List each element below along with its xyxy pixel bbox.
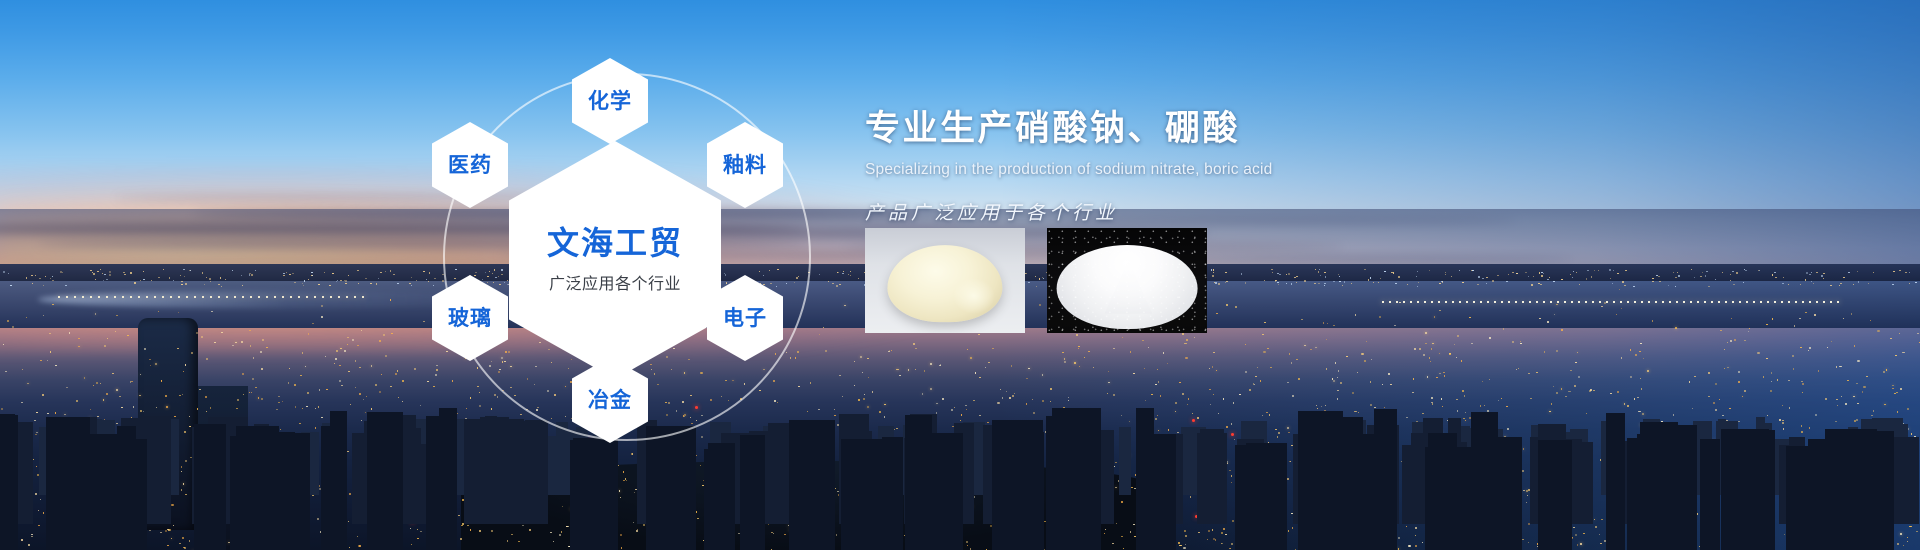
window-light [307, 392, 309, 394]
roof-beacon-light [1231, 433, 1234, 436]
window-light [1594, 519, 1595, 521]
window-light [1729, 408, 1730, 410]
window-light [1792, 355, 1794, 357]
window-light [160, 532, 162, 533]
window-light [42, 394, 44, 396]
window-light [119, 396, 121, 397]
window-light [1818, 370, 1819, 372]
window-light [1854, 420, 1856, 422]
window-light [1262, 334, 1264, 335]
window-light [1909, 526, 1911, 527]
window-light [1266, 412, 1268, 413]
window-light [1604, 540, 1606, 542]
powder-grain-texture [1047, 228, 1207, 333]
window-light [1213, 538, 1214, 540]
window-light [1465, 420, 1466, 421]
window-light [171, 538, 172, 539]
window-light [1000, 389, 1001, 390]
window-light [1896, 392, 1898, 393]
window-light [1480, 405, 1481, 407]
window-light [1748, 331, 1749, 332]
window-light [978, 334, 980, 335]
window-light [318, 406, 319, 408]
window-light [335, 358, 337, 360]
window-light [1002, 397, 1003, 399]
window-light [908, 369, 909, 371]
window-light [1033, 412, 1035, 414]
window-light [1289, 353, 1291, 355]
window-light [1182, 393, 1184, 394]
window-light [302, 408, 303, 409]
window-light [31, 536, 33, 537]
window-light [864, 394, 865, 395]
window-light [371, 365, 372, 367]
window-light [241, 341, 243, 343]
window-light [317, 518, 319, 519]
window-light [889, 350, 890, 351]
window-light [1078, 348, 1080, 350]
window-light [179, 543, 181, 544]
window-light [1484, 405, 1486, 406]
window-light [1179, 382, 1181, 383]
window-light [1439, 353, 1440, 355]
window-light [1788, 380, 1789, 382]
window-light [1398, 537, 1400, 539]
window-light [1419, 348, 1421, 350]
window-light [390, 386, 391, 387]
window-light [1185, 357, 1187, 359]
window-light [1600, 543, 1602, 544]
window-light [1158, 381, 1159, 383]
window-light [1157, 369, 1158, 370]
window-light [1590, 389, 1592, 390]
window-light [1456, 357, 1457, 358]
window-light [1187, 404, 1188, 405]
window-light [1577, 352, 1578, 353]
window-light [206, 358, 208, 360]
suspension-bridge-right [1382, 301, 1843, 303]
window-light [1793, 368, 1794, 370]
window-light [352, 339, 353, 341]
window-light [1767, 415, 1769, 416]
window-light [1463, 418, 1465, 419]
window-light [1800, 347, 1802, 349]
window-light [1742, 396, 1744, 397]
window-light [1316, 405, 1318, 406]
window-light [69, 332, 70, 334]
window-light [1809, 347, 1811, 348]
window-light [997, 402, 999, 403]
window-light [395, 373, 397, 375]
window-light [1457, 335, 1458, 337]
window-light [1871, 415, 1873, 416]
window-light [1522, 539, 1524, 541]
window-light [302, 352, 303, 354]
window-light [1408, 545, 1410, 547]
window-light [1267, 348, 1269, 349]
window-light [1449, 353, 1451, 355]
window-light [1647, 370, 1649, 372]
window-light [1335, 362, 1336, 364]
window-light [1186, 339, 1188, 341]
window-light [363, 399, 364, 400]
window-light [47, 360, 49, 361]
window-light [1257, 367, 1258, 368]
window-light [339, 365, 341, 366]
window-light [232, 345, 234, 346]
window-light [1461, 360, 1463, 362]
window-light [1179, 545, 1181, 546]
window-light [1724, 368, 1725, 369]
window-light [1168, 429, 1169, 431]
window-light [1406, 526, 1407, 527]
window-light [1011, 365, 1013, 367]
window-light [1221, 532, 1222, 534]
window-light [1177, 432, 1179, 433]
window-light [1223, 528, 1225, 530]
window-light [1730, 340, 1732, 342]
window-light [1777, 379, 1778, 381]
window-light [1456, 399, 1458, 401]
window-light [1556, 350, 1558, 352]
window-light [924, 370, 925, 372]
window-light [361, 420, 362, 421]
window-light [1429, 357, 1430, 359]
window-light [96, 382, 98, 383]
window-light [1575, 534, 1577, 536]
window-light [1221, 543, 1223, 544]
banner-heading: 专业生产硝酸钠、硼酸 [865, 100, 1585, 151]
window-light [1573, 527, 1574, 528]
window-light [1333, 380, 1335, 382]
window-light [398, 397, 400, 399]
window-light [1160, 395, 1161, 397]
window-light [1507, 428, 1509, 430]
window-light [1877, 330, 1879, 332]
window-light [1338, 370, 1340, 372]
window-light [66, 387, 68, 388]
window-light [1464, 395, 1465, 397]
banner-tagline: 产品广泛应用于各个行业 [865, 198, 1585, 225]
window-light [1287, 427, 1289, 429]
window-light [1454, 344, 1455, 345]
window-light [64, 414, 65, 415]
window-light [258, 397, 260, 399]
window-light [1298, 378, 1300, 380]
window-light [1583, 533, 1585, 534]
window-light [1358, 412, 1360, 414]
window-light [103, 399, 105, 401]
window-light [1570, 370, 1572, 372]
window-light [295, 406, 296, 407]
window-light [1253, 383, 1255, 384]
window-light [106, 393, 108, 394]
window-light [1565, 396, 1567, 397]
window-light [1234, 439, 1235, 440]
window-light [1853, 396, 1855, 398]
window-light [1213, 352, 1215, 353]
window-light [1326, 339, 1327, 341]
window-light [1627, 405, 1629, 407]
window-light [319, 485, 321, 487]
window-light [1207, 539, 1208, 540]
window-light [350, 404, 351, 406]
banner-english-subtitle: Specializing in the production of sodium… [865, 161, 1585, 179]
window-light [1406, 417, 1408, 418]
window-light [280, 429, 281, 430]
window-light [1209, 389, 1210, 390]
window-light [1544, 351, 1545, 352]
window-light [1142, 340, 1143, 341]
building [1136, 408, 1153, 550]
window-light [1325, 405, 1326, 406]
window-light [1578, 376, 1580, 378]
window-light [1897, 543, 1899, 545]
window-light [954, 407, 955, 409]
window-light [1184, 530, 1186, 532]
window-light [116, 389, 118, 391]
window-light [1692, 408, 1693, 409]
window-light [1427, 376, 1429, 377]
window-light [930, 363, 932, 364]
window-light [93, 385, 94, 386]
window-light [308, 333, 309, 335]
window-light [379, 340, 380, 342]
window-light [1212, 366, 1213, 368]
window-light [1536, 372, 1538, 374]
window-light [1498, 400, 1499, 401]
window-light [1278, 432, 1280, 434]
window-light [1260, 380, 1261, 382]
window-light [1277, 436, 1278, 438]
window-light [1413, 378, 1414, 380]
window-light [1624, 403, 1626, 405]
window-light [1232, 520, 1234, 522]
window-light [1198, 532, 1200, 533]
window-light [84, 377, 85, 379]
window-light [1208, 530, 1210, 532]
banner-copy: 专业生产硝酸钠、硼酸 Specializing in the productio… [865, 100, 1585, 225]
window-light [1907, 541, 1908, 543]
window-light [1825, 398, 1827, 400]
window-light [348, 371, 350, 372]
building [1808, 439, 1833, 550]
window-light [1561, 329, 1563, 331]
hero-banner: 化学 釉料 医药 电子 玻璃 冶金 文海工贸 广泛应用各个行业 专业生产硝酸钠、… [0, 0, 1920, 550]
window-light [21, 539, 23, 541]
building [1606, 413, 1624, 550]
window-light [371, 408, 373, 409]
window-light [1895, 355, 1897, 356]
window-light [1439, 373, 1441, 374]
window-light [1526, 490, 1528, 492]
window-light [1694, 376, 1696, 377]
window-light [1337, 377, 1338, 378]
window-light [1770, 390, 1772, 391]
building [905, 415, 931, 550]
window-light [1523, 490, 1525, 491]
window-light [1522, 470, 1524, 472]
window-light [40, 499, 42, 500]
window-light [1586, 413, 1587, 414]
window-light [899, 375, 901, 376]
window-light [1226, 426, 1228, 428]
window-light [1442, 406, 1443, 407]
window-light [97, 416, 99, 417]
window-light [1801, 381, 1803, 383]
window-light [1108, 382, 1110, 383]
window-light [1175, 411, 1177, 412]
window-light [1270, 367, 1272, 368]
window-light [867, 358, 869, 359]
window-light [1390, 384, 1392, 385]
window-light [965, 405, 967, 406]
window-light [1713, 402, 1715, 403]
window-light [334, 363, 335, 364]
window-light [1415, 545, 1417, 547]
window-light [276, 409, 278, 410]
window-light [868, 377, 869, 378]
window-light [249, 392, 251, 393]
window-light [1836, 399, 1838, 400]
window-light [35, 434, 37, 435]
window-light [967, 349, 969, 350]
window-light [1, 408, 2, 410]
window-light [1006, 391, 1007, 392]
window-light [1630, 349, 1632, 350]
window-light [1414, 348, 1416, 350]
window-light [1862, 391, 1863, 392]
window-light [1231, 543, 1232, 545]
building [1700, 439, 1720, 550]
window-light [1182, 333, 1184, 335]
window-light [1113, 348, 1115, 349]
window-light [27, 383, 29, 384]
window-light [1727, 342, 1729, 343]
window-light [1551, 403, 1552, 405]
window-light [1808, 350, 1809, 352]
window-light [1580, 543, 1582, 545]
roof-beacon-light [1192, 419, 1195, 422]
window-light [1423, 354, 1425, 356]
window-light [1088, 351, 1090, 352]
window-light [1184, 343, 1186, 344]
window-light [326, 389, 328, 390]
window-light [397, 370, 399, 372]
window-light [1262, 415, 1263, 416]
window-light [1708, 396, 1710, 398]
window-light [1574, 385, 1576, 387]
window-light [1516, 369, 1517, 370]
window-light [1231, 475, 1233, 477]
window-light [1708, 372, 1709, 374]
window-light [1148, 347, 1150, 348]
window-light [1430, 361, 1431, 362]
window-light [1738, 381, 1740, 383]
window-light [250, 345, 251, 347]
window-light [385, 355, 387, 357]
window-light [1115, 462, 1117, 463]
window-light [858, 399, 860, 401]
window-light [1527, 495, 1528, 496]
window-light [1310, 349, 1312, 350]
window-light [1449, 353, 1451, 354]
building [270, 433, 310, 550]
window-light [1890, 338, 1892, 339]
window-light [1432, 343, 1433, 344]
window-light [1050, 401, 1051, 403]
window-light [1715, 383, 1717, 385]
window-light [1422, 542, 1423, 543]
window-light [1158, 430, 1159, 431]
hex-label: 玻璃 [448, 308, 492, 329]
window-light [1382, 384, 1384, 385]
window-light [1873, 410, 1874, 412]
product-photo-sodium-nitrate [865, 228, 1025, 333]
window-light [1719, 399, 1720, 400]
window-light [78, 346, 80, 347]
window-light [1357, 372, 1358, 373]
window-light [1528, 373, 1530, 374]
window-light [1415, 527, 1417, 529]
window-light [1254, 384, 1255, 385]
window-light [1230, 548, 1231, 550]
window-light [35, 493, 37, 495]
window-light [1911, 433, 1912, 435]
window-light [1575, 362, 1577, 363]
window-light [112, 373, 114, 375]
window-light [1370, 404, 1372, 406]
window-light [183, 547, 185, 548]
window-light [358, 545, 359, 547]
window-light [355, 360, 356, 362]
window-light [1841, 396, 1842, 397]
window-light [1763, 376, 1764, 378]
window-light [1443, 372, 1444, 373]
window-light [294, 384, 296, 385]
window-light [1388, 373, 1390, 374]
building [1325, 444, 1375, 550]
window-light [1432, 403, 1433, 405]
window-light [1122, 337, 1123, 338]
window-light [1374, 407, 1376, 408]
window-light [288, 382, 289, 384]
window-light [1197, 417, 1199, 418]
window-light [936, 403, 938, 404]
window-light [1457, 410, 1458, 412]
window-light [1431, 397, 1432, 399]
window-light [1157, 415, 1158, 416]
window-light [43, 512, 44, 514]
window-light [357, 345, 359, 346]
window-light [1223, 398, 1224, 399]
window-light [1839, 366, 1841, 367]
window-light [1425, 332, 1427, 334]
window-light [939, 365, 941, 366]
window-light [1779, 419, 1781, 421]
window-light [3, 344, 4, 346]
window-light [1771, 372, 1773, 374]
window-light [359, 393, 361, 394]
window-light [391, 333, 393, 334]
window-light [1782, 422, 1784, 424]
window-light [1292, 395, 1294, 397]
window-light [1637, 397, 1639, 398]
window-light [1296, 359, 1298, 360]
window-light [1720, 330, 1722, 331]
window-light [1782, 405, 1783, 406]
window-light [383, 334, 385, 336]
